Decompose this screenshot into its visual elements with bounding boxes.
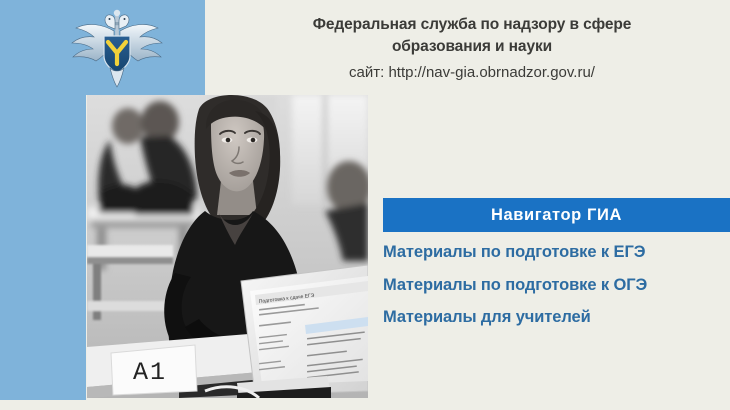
svg-text:A1: A1 bbox=[133, 358, 167, 387]
site-url-line: сайт: http://nav-gia.obrnadzor.gov.ru/ bbox=[232, 63, 712, 83]
link-teacher-materials[interactable]: Материалы для учителей bbox=[383, 309, 730, 326]
slide-root: Федеральная служба по надзору в сфере об… bbox=[0, 0, 730, 410]
organization-title-line-1: Федеральная служба по надзору в сфере bbox=[232, 14, 712, 36]
navigator-banner: Навигатор ГИА bbox=[383, 198, 730, 232]
organization-title-line-2: образования и науки bbox=[232, 36, 712, 58]
classroom-exam-photo: A1 Подготовка к сдаче ЕГЭ bbox=[87, 95, 368, 398]
link-ege-materials[interactable]: Материалы по подготовке к ЕГЭ bbox=[383, 244, 730, 261]
rosobrnadzor-emblem-icon bbox=[62, 6, 172, 90]
link-oge-materials[interactable]: Материалы по подготовке к ОГЭ bbox=[383, 277, 730, 294]
header-block: Федеральная служба по надзору в сфере об… bbox=[232, 14, 712, 83]
materials-link-list: Материалы по подготовке к ЕГЭ Материалы … bbox=[383, 244, 730, 342]
navigator-banner-label: Навигатор ГИА bbox=[491, 206, 622, 225]
organization-title: Федеральная служба по надзору в сфере об… bbox=[232, 14, 712, 58]
